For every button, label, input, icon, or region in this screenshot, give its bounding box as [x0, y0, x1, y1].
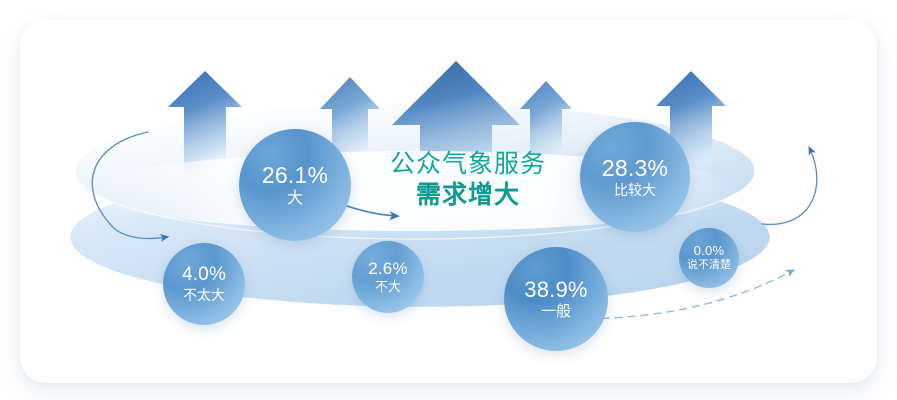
infographic-stage: 26.1% 大 28.3% 比较大 38.9% 一般 4.0% 不太大 2.6%…: [0, 0, 897, 400]
bubble-percent: 26.1%: [262, 163, 328, 188]
bubble-label: 比较大: [614, 183, 656, 198]
bubble-da[interactable]: 26.1% 大: [239, 129, 351, 241]
bubble-butaida[interactable]: 4.0% 不太大: [163, 243, 245, 325]
title-line-2: 需求增大: [360, 180, 576, 211]
bubble-label: 大: [287, 190, 303, 207]
infographic-title: 公众气象服务 需求增大: [360, 149, 576, 210]
bubble-percent: 2.6%: [368, 260, 408, 278]
bubble-label: 不太大: [183, 288, 225, 303]
bubble-label: 一般: [541, 304, 571, 320]
curved-arrow-right: [762, 149, 817, 224]
title-line-1: 公众气象服务: [360, 149, 576, 180]
bubble-label: 说不清楚: [687, 260, 731, 272]
bubble-percent: 4.0%: [182, 265, 226, 286]
bubble-yiban[interactable]: 38.9% 一般: [504, 247, 608, 351]
bubble-label: 不大: [375, 280, 401, 294]
bubble-buda[interactable]: 2.6% 不大: [352, 241, 424, 313]
bubble-bijiaoda[interactable]: 28.3% 比较大: [580, 122, 690, 232]
infographic-scene: 26.1% 大 28.3% 比较大 38.9% 一般 4.0% 不太大 2.6%…: [20, 19, 877, 383]
infographic-card: 26.1% 大 28.3% 比较大 38.9% 一般 4.0% 不太大 2.6%…: [20, 19, 877, 383]
bubble-percent: 38.9%: [524, 278, 587, 302]
bubble-shuobuqingchu[interactable]: 0.0% 说不清楚: [679, 228, 739, 288]
bubble-percent: 28.3%: [602, 156, 668, 181]
bubble-percent: 0.0%: [694, 244, 724, 258]
